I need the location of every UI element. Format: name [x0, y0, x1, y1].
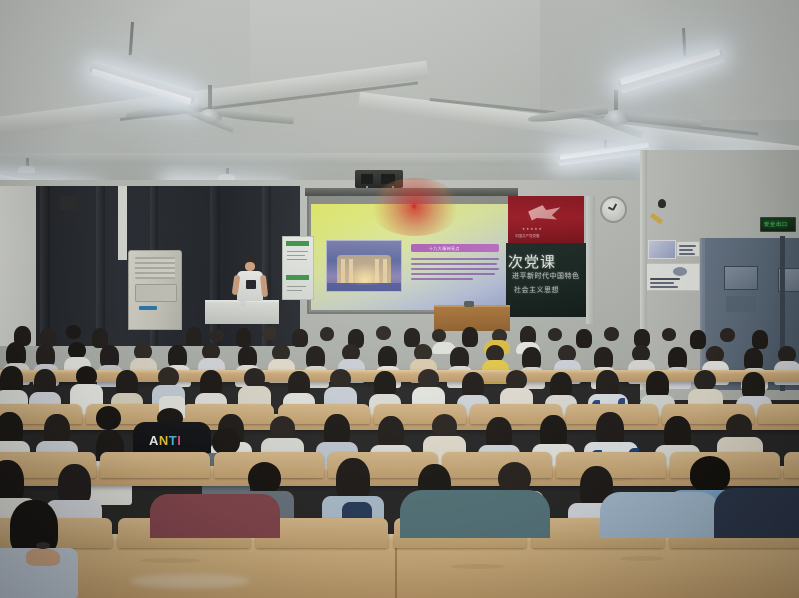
desk-scuff	[130, 574, 250, 588]
wall-clock	[600, 196, 627, 223]
ac-vent	[135, 257, 175, 279]
wrist-band	[36, 542, 50, 549]
presenter	[233, 256, 267, 308]
slide-surface: ★ 十九大精神亮点	[311, 204, 514, 310]
projection-screen: ★ 十九大精神亮点	[307, 192, 518, 314]
info-poster	[676, 241, 700, 257]
exit-sign-text: 安全出口	[764, 221, 788, 228]
curtain-gap	[118, 186, 127, 260]
chalk-line-1: 次党课	[508, 251, 556, 272]
security-camera	[658, 199, 666, 208]
lamp-fixture	[613, 33, 725, 93]
slide-image	[326, 240, 402, 292]
blackboard: 次党课 进平新时代中国特色 社会主义思想	[506, 243, 590, 317]
notice-poster	[648, 240, 676, 259]
slide-body	[411, 258, 501, 280]
red-party-banner: ★ ★ ★ ★ ★ 中国共产党党徽	[508, 196, 584, 244]
wall-notice-board	[282, 236, 314, 300]
lecture-hall-photo: ★ 十九大精神亮点	[0, 0, 799, 598]
lamp-cap	[123, 55, 141, 63]
presenter-face	[245, 262, 255, 271]
fan-rod	[208, 85, 212, 111]
wall-speaker	[60, 196, 77, 210]
presenter-arm	[260, 275, 268, 298]
safety-poster	[646, 263, 700, 291]
lamp-rod	[128, 22, 134, 58]
fan-rod	[614, 90, 618, 112]
blue-lace-top-student	[690, 456, 730, 492]
ac-badge	[139, 306, 157, 310]
party-emblem-icon	[526, 204, 562, 222]
slide-title-text: 十九大精神亮点	[429, 246, 460, 252]
slide-star-icon: ★	[410, 202, 418, 211]
chalk-line-2: 进平新时代中国特色	[512, 271, 580, 281]
door-window	[724, 266, 758, 290]
fan-blade	[218, 109, 294, 125]
hand	[26, 548, 60, 566]
ceiling-light	[620, 28, 728, 118]
board-frame	[586, 196, 595, 324]
slide-title-bar: 十九大精神亮点	[411, 244, 499, 252]
lamp-fixture	[84, 60, 196, 120]
ac-panel	[135, 284, 177, 302]
banner-subtitle-text: 中国共产党党徽	[515, 234, 540, 239]
ceiling-light	[95, 22, 200, 112]
lamp-cap	[18, 166, 35, 173]
chalk-line-3: 社会主义思想	[514, 285, 559, 295]
shirt-print	[246, 280, 256, 289]
banner-subtitle: ★ ★ ★ ★ ★	[522, 227, 542, 231]
lectern-mic	[464, 301, 474, 307]
exit-sign: 安全出口	[760, 217, 796, 232]
